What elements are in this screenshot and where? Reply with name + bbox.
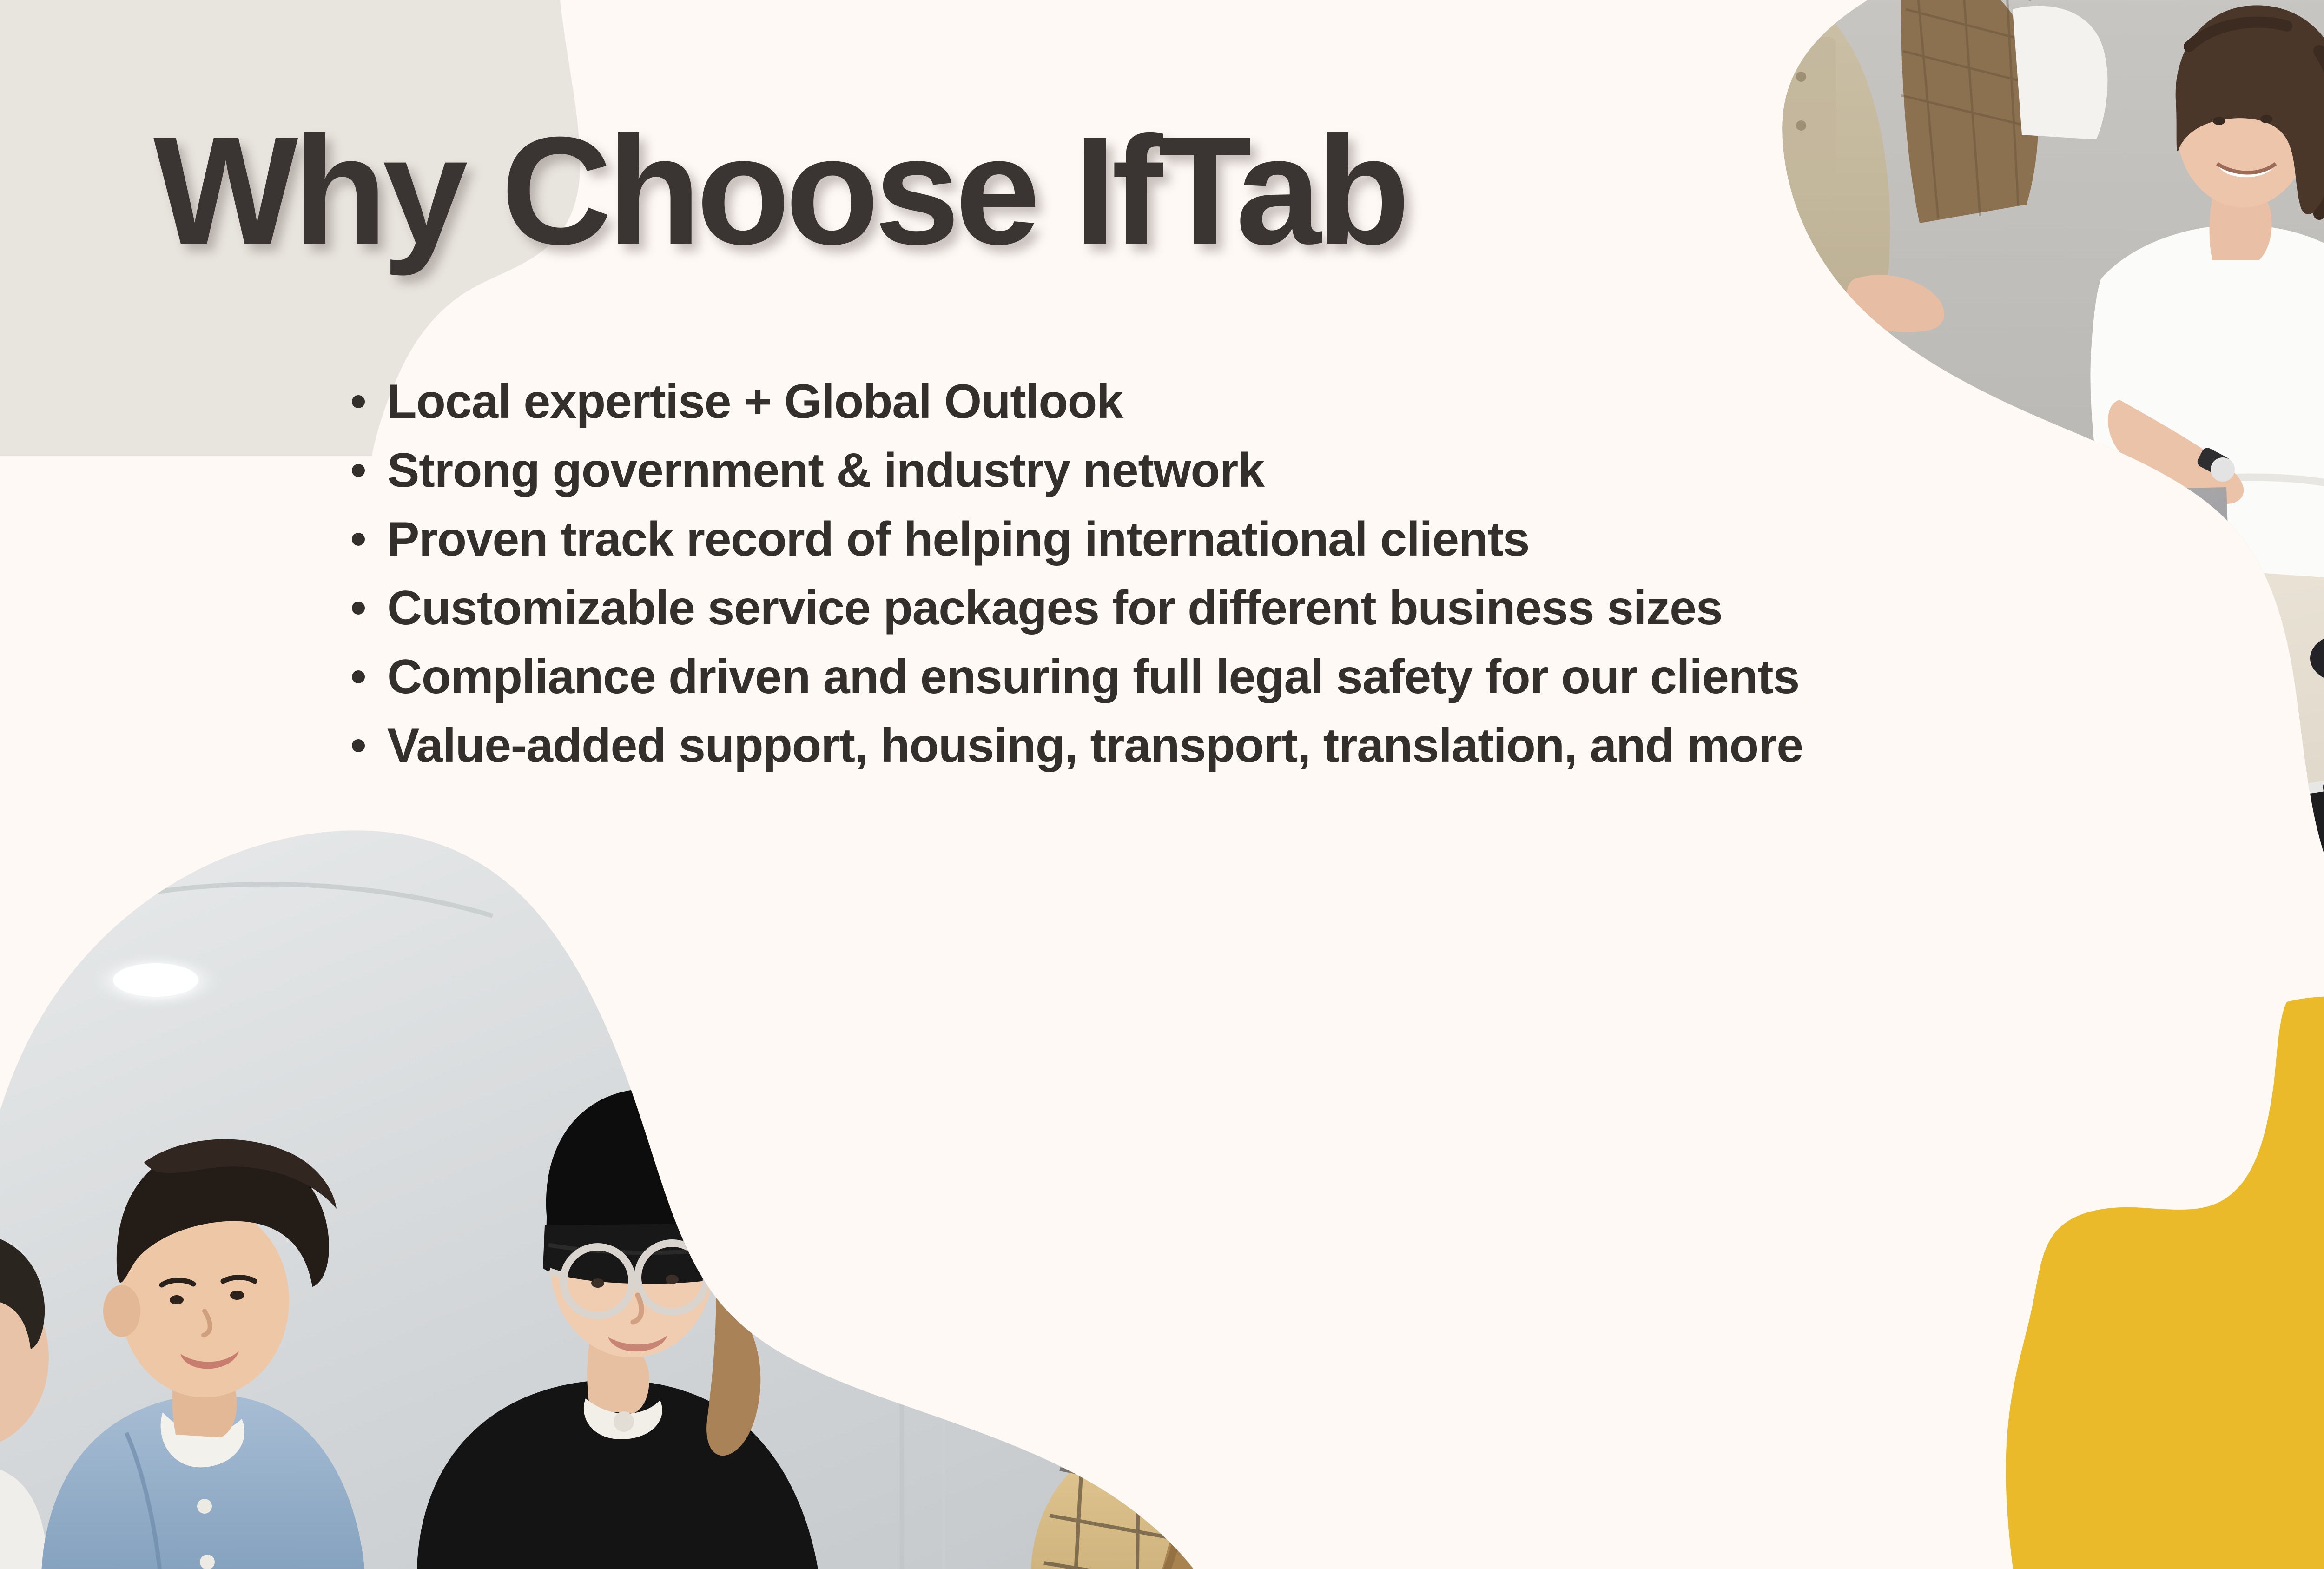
list-item: Local expertise + Global Outlook (346, 367, 1803, 436)
photo-young-team-bottom-left (0, 790, 1329, 1569)
benefit-text: Proven track record of helping internati… (387, 513, 1529, 566)
list-item: Value-added support, housing, transport,… (346, 711, 1803, 780)
bullet-point-icon (352, 602, 365, 615)
bullet-point-icon (352, 395, 365, 408)
list-item: Customizable service packages for differ… (346, 574, 1803, 642)
bullet-point-icon (352, 739, 365, 752)
list-item: Compliance driven and ensuring full lega… (346, 642, 1803, 711)
slide-canvas: Why Choose IfTab Local expertise + Globa… (0, 0, 2324, 1569)
benefit-text: Value-added support, housing, transport,… (387, 719, 1803, 772)
list-item: Strong government & industry network (346, 436, 1803, 505)
benefit-text: Compliance driven and ensuring full lega… (387, 650, 1799, 703)
benefit-text: Strong government & industry network (387, 444, 1264, 497)
page-title-wrapper: Why Choose IfTab (153, 114, 1406, 267)
list-item: Proven track record of helping internati… (346, 505, 1803, 574)
bullet-point-icon (352, 464, 365, 477)
benefits-list: Local expertise + Global Outlook Strong … (346, 367, 1803, 780)
bullet-point-icon (352, 670, 365, 683)
yellow-blob-path (2006, 996, 2324, 1569)
page-title: Why Choose IfTab (153, 114, 1406, 267)
benefit-text: Local expertise + Global Outlook (387, 375, 1123, 428)
yellow-decorative-blob (1989, 995, 2324, 1569)
benefit-text: Customizable service packages for differ… (387, 582, 1722, 635)
bullet-point-icon (352, 533, 365, 546)
